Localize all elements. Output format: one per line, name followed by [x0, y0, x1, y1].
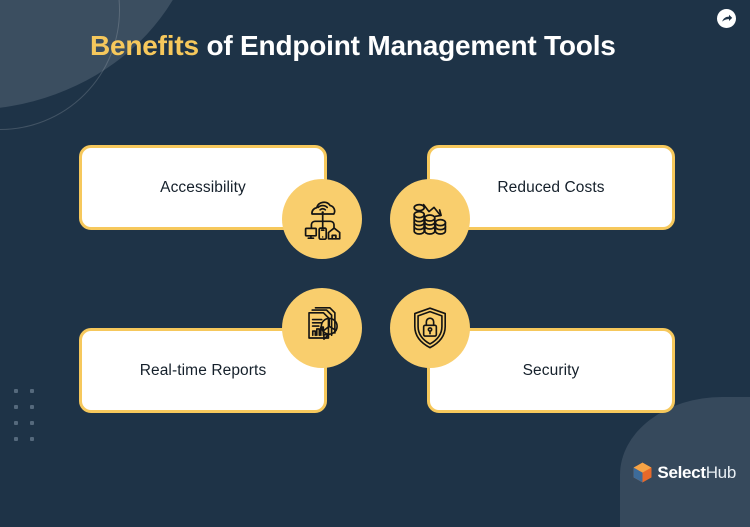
benefit-card-label: Accessibility — [160, 179, 246, 197]
benefit-card-label: Real-time Reports — [140, 362, 267, 380]
benefit-card-label: Reduced Costs — [497, 179, 604, 197]
cloud-wifi-devices-icon — [282, 179, 362, 259]
selecthub-logo-text: SelectHub — [657, 463, 736, 483]
logo-text-bold: Select — [657, 463, 705, 482]
coins-down-arrow-icon — [390, 179, 470, 259]
logo-text-light: Hub — [706, 463, 736, 482]
selecthub-cube-icon — [633, 462, 652, 483]
documents-charts-icon — [282, 288, 362, 368]
selecthub-logo[interactable]: SelectHub — [633, 462, 736, 483]
benefits-board: Accessibility Reduced Costs Real-time Re… — [0, 0, 750, 497]
shield-lock-icon — [390, 288, 470, 368]
benefit-card-label: Security — [523, 362, 580, 380]
